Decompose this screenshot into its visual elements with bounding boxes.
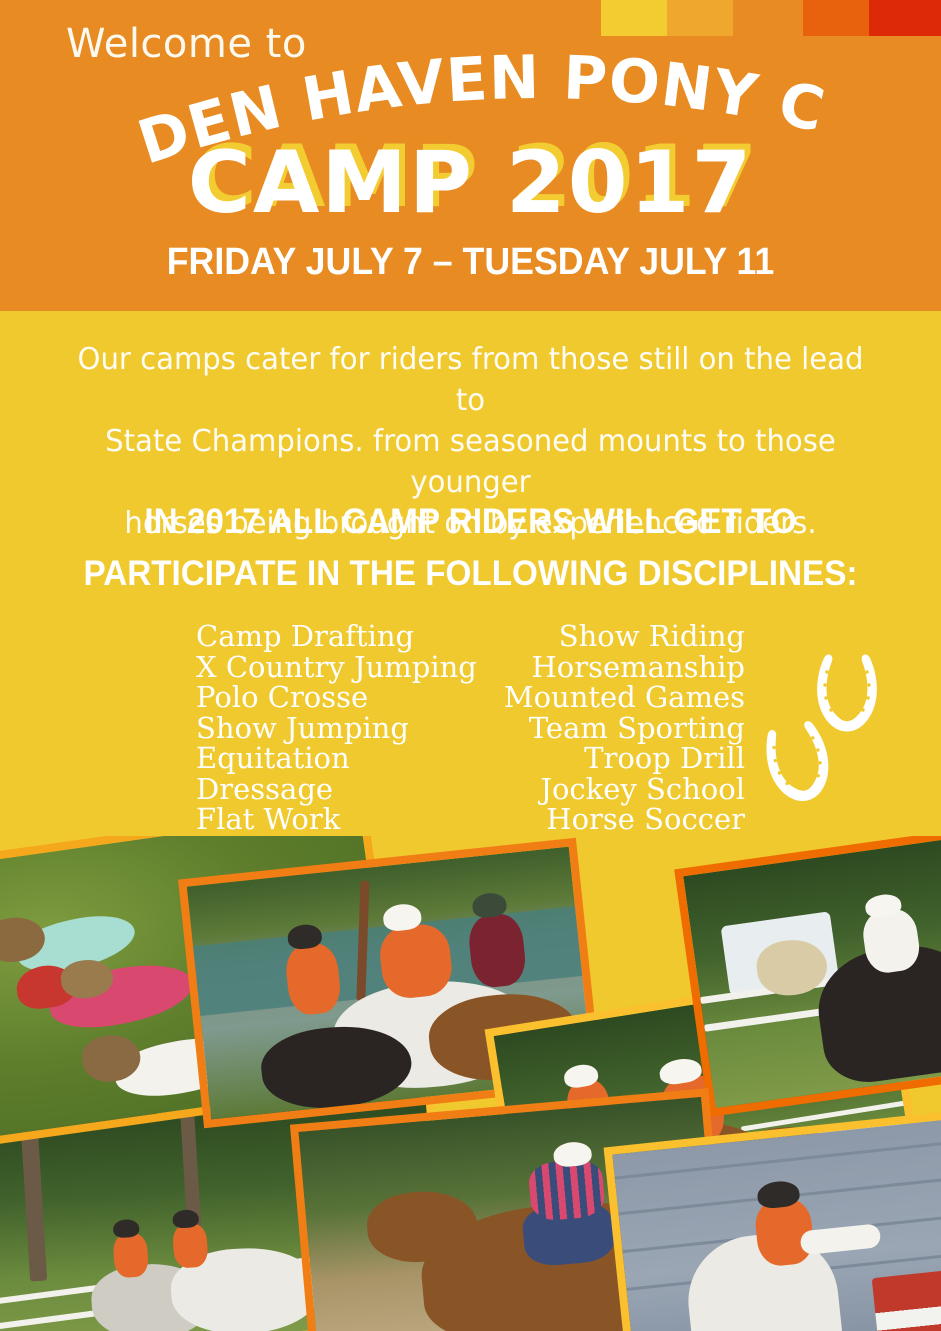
photo-black-horse-rider bbox=[674, 836, 941, 1117]
top-color-block-red bbox=[869, 0, 941, 36]
discipline-item: Mounted Games bbox=[440, 682, 745, 713]
top-color-block-amber bbox=[667, 0, 733, 36]
top-color-block-orange bbox=[803, 0, 869, 36]
welcome-text: Welcome to bbox=[66, 24, 307, 64]
disciplines-heading: IN 2017 ALL CAMP RIDERS WILL GET TO PART… bbox=[81, 496, 861, 600]
discipline-item: Troop Drill bbox=[440, 743, 745, 774]
top-color-block-yellow bbox=[601, 0, 667, 36]
discipline-item: Horse Soccer bbox=[440, 804, 745, 835]
discipline-item: Show Riding bbox=[440, 621, 745, 652]
discipline-item: Jockey School bbox=[440, 774, 745, 805]
disciplines-heading-line: IN 2017 ALL CAMP RIDERS WILL GET TO bbox=[81, 496, 861, 548]
disciplines-heading-line: PARTICIPATE IN THE FOLLOWING DISCIPLINES… bbox=[81, 548, 861, 600]
intro-line: Our camps cater for riders from those st… bbox=[63, 339, 879, 421]
disciplines-column-right: Show Riding Horsemanship Mounted Games T… bbox=[440, 621, 745, 835]
poster: Welcome to CAMDEN HAVEN PONY CLUB CAMP 2… bbox=[0, 0, 941, 1331]
discipline-item: Horsemanship bbox=[440, 652, 745, 683]
camp-dates: FRIDAY JULY 7 – TUESDAY JULY 11 bbox=[28, 240, 913, 284]
horseshoe-decoration bbox=[762, 652, 892, 802]
poster-header: Welcome to CAMDEN HAVEN PONY CLUB CAMP 2… bbox=[0, 0, 941, 311]
camp-title: CAMP 2017 bbox=[0, 140, 941, 226]
discipline-item: Team Sporting bbox=[440, 713, 745, 744]
photo-collage bbox=[0, 836, 941, 1331]
intro-line: State Champions. from seasoned mounts to… bbox=[63, 421, 879, 503]
